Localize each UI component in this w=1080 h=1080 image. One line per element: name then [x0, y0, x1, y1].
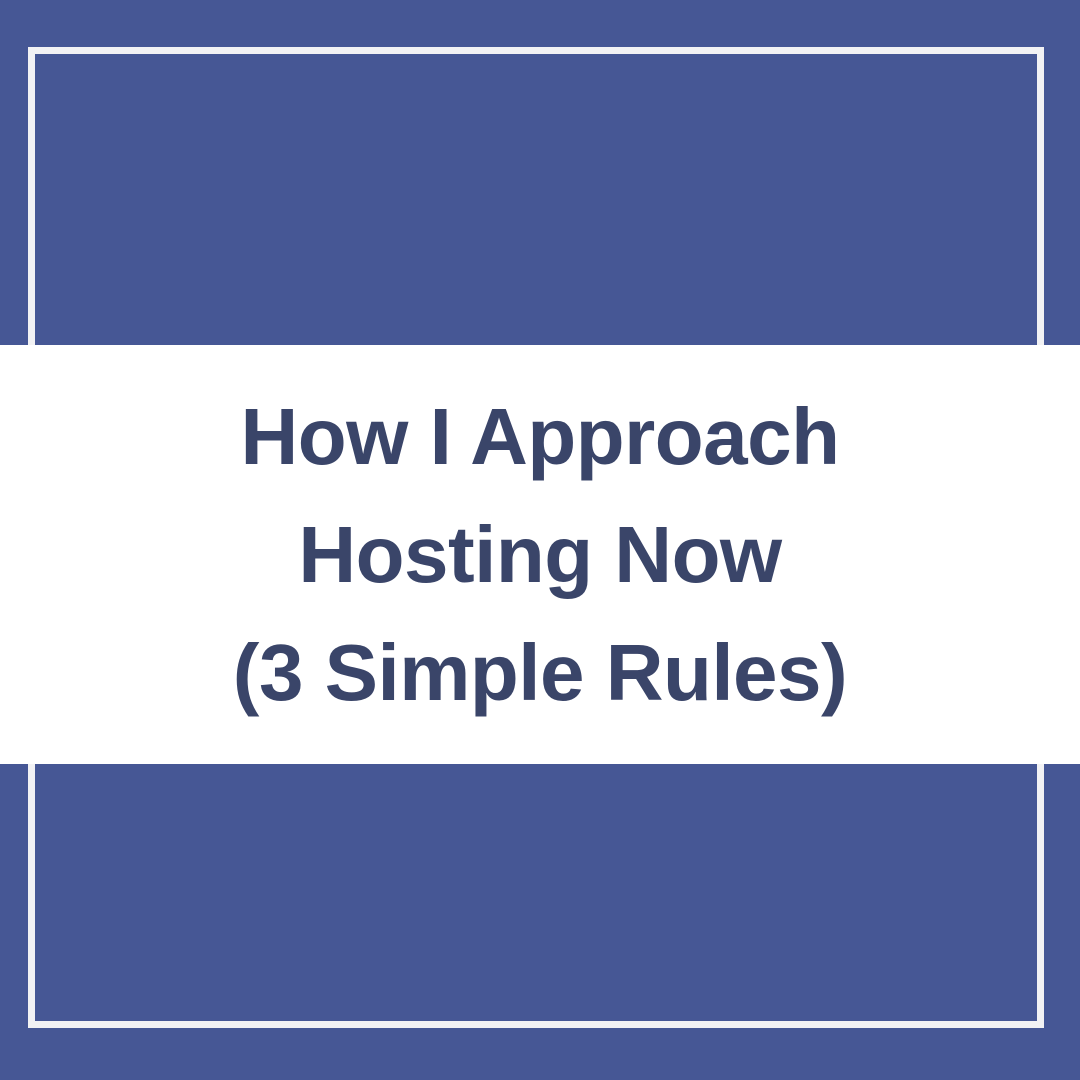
page-title: How I Approach Hosting Now (3 Simple Rul… — [100, 378, 980, 732]
title-line-1: How I Approach — [100, 378, 980, 496]
title-line-2: Hosting Now — [100, 496, 980, 614]
social-card-canvas: How I Approach Hosting Now (3 Simple Rul… — [0, 0, 1080, 1080]
title-band: How I Approach Hosting Now (3 Simple Rul… — [0, 345, 1080, 764]
title-line-3: (3 Simple Rules) — [100, 614, 980, 732]
